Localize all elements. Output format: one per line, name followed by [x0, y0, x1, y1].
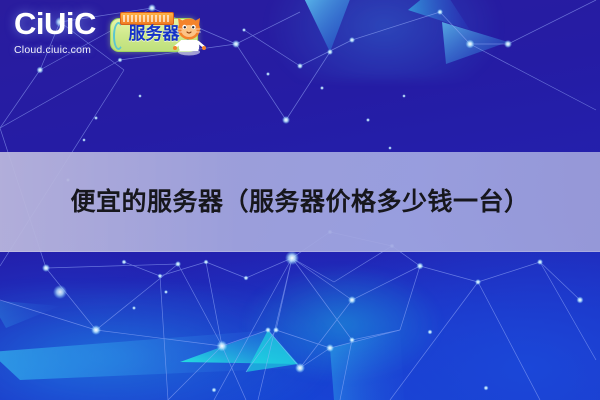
orange-cat-mascot-icon — [172, 14, 208, 56]
server-product-badge: 服务器 — [110, 12, 208, 56]
cyan-polygon-shape — [330, 330, 404, 400]
title-band: 便宜的服务器（服务器价格多少钱一台） — [0, 152, 600, 252]
logo-wordmark: CiUiC — [14, 8, 122, 39]
cyan-polygon-shape — [0, 300, 60, 328]
logo-domain: Cloud.ciuic.com — [14, 44, 122, 56]
cyan-polygon-shape — [408, 0, 470, 30]
server-price-banner: CiUiC Cloud.ciuic.com 服务器 — [0, 0, 600, 400]
site-logo[interactable]: CiUiC Cloud.ciuic.com — [14, 8, 122, 56]
cyan-polygon-shape — [442, 22, 508, 64]
page-title: 便宜的服务器（服务器价格多少钱一台） — [70, 190, 529, 215]
